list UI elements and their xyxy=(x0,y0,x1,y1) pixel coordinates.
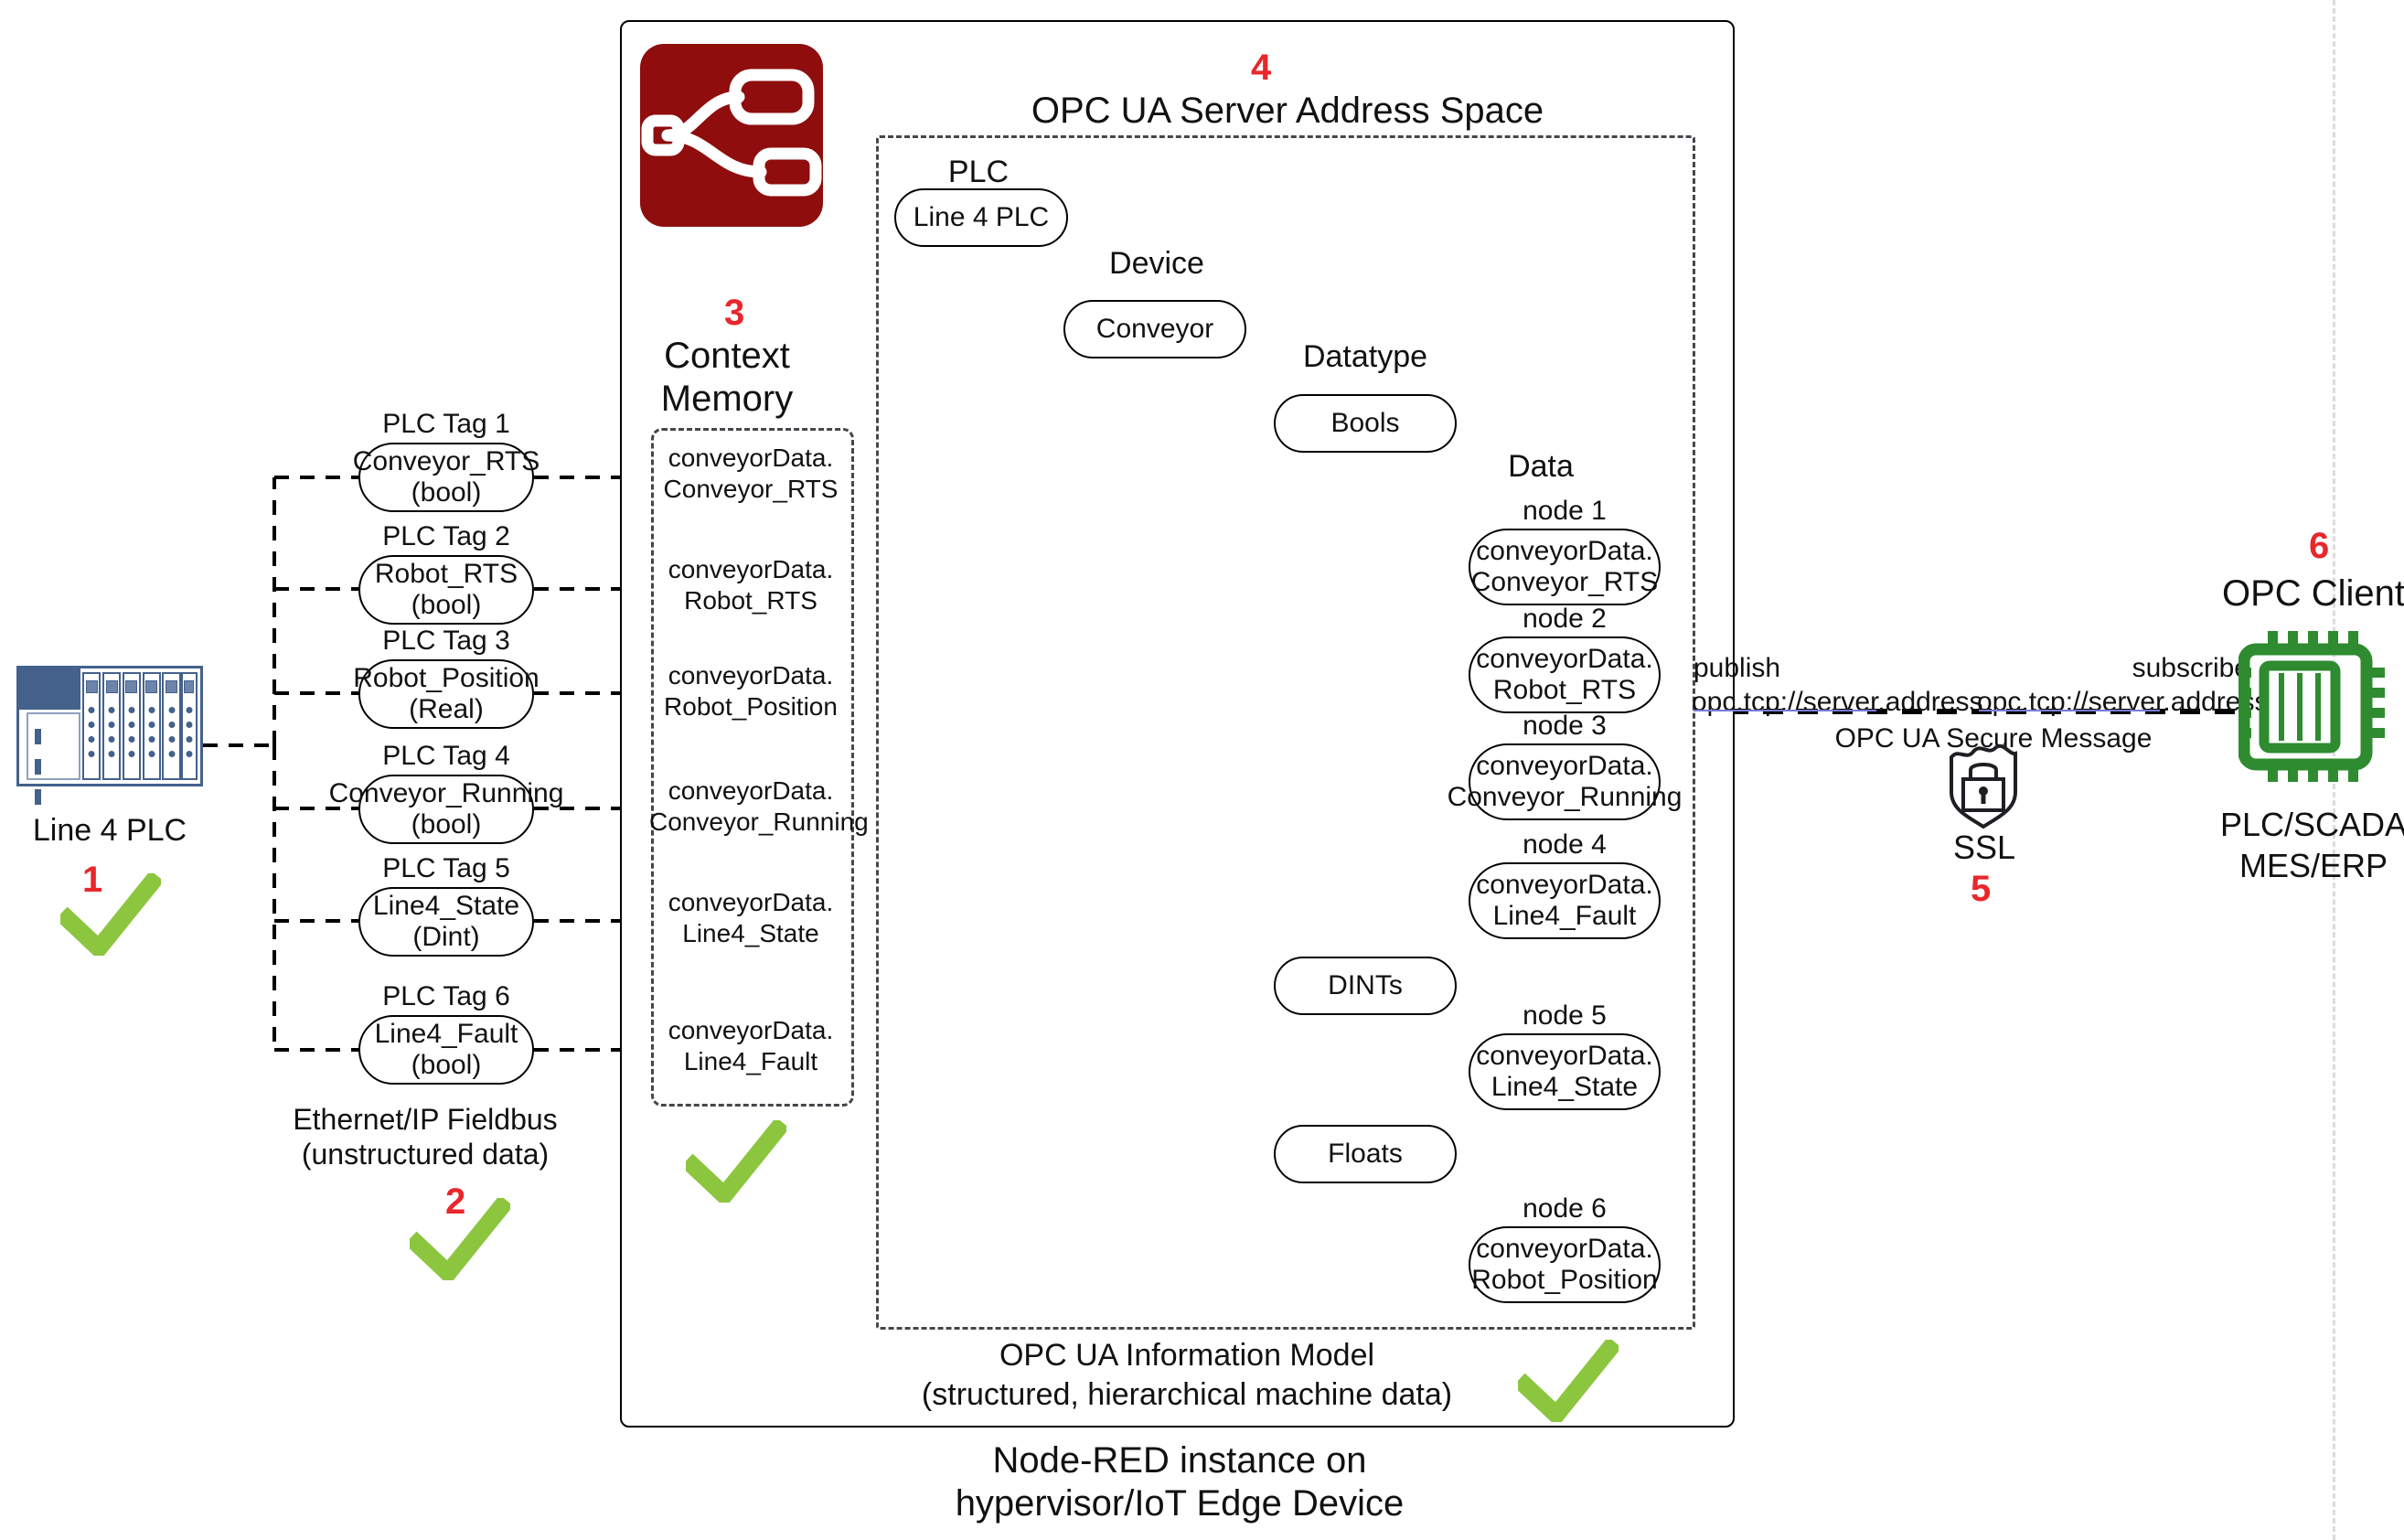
address-space-title: OPC UA Server Address Space xyxy=(876,89,1699,134)
cpu-chip-icon xyxy=(2238,631,2385,782)
context-entry-4-line2: Line4_State xyxy=(653,918,849,949)
data-node-0-line2: Conveyor_RTS xyxy=(1471,567,1659,599)
plc-tag-name-0: Conveyor_RTS xyxy=(353,446,540,478)
plc-tag-pill-3[interactable]: Conveyor_Running (bool) xyxy=(358,775,534,844)
context-entry-5-line2: Line4_Fault xyxy=(653,1046,849,1077)
level-label-datatype: Datatype xyxy=(1278,338,1452,376)
data-node-caption-4: node 5 xyxy=(1469,1000,1661,1033)
plc-tag-type-2: (Real) xyxy=(409,694,484,726)
address-node-device[interactable]: Conveyor xyxy=(1063,300,1246,358)
subscribe-url: opc.tcp://server.address xyxy=(1977,686,2253,720)
data-node-4[interactable]: conveyorData. Line4_State xyxy=(1469,1033,1661,1110)
step-number-5: 5 xyxy=(1971,869,1991,910)
level-label-data: Data xyxy=(1472,448,1609,486)
shield-lock-icon xyxy=(1946,739,2021,830)
context-entry-3-line2: Conveyor_Running xyxy=(649,807,852,838)
step-number-4: 4 xyxy=(1251,48,1271,89)
address-node-device-label: Conveyor xyxy=(1096,314,1213,346)
fieldbus-label-line2: (unstructured data) xyxy=(256,1137,594,1172)
plc-tag-type-1: (bool) xyxy=(411,590,482,622)
data-node-1[interactable]: conveyorData. Robot_RTS xyxy=(1469,636,1661,713)
context-memory-entry-2: conveyorData. Robot_Position xyxy=(653,660,849,722)
level-label-device: Device xyxy=(1088,245,1225,283)
context-entry-0-line1: conveyorData. xyxy=(653,443,849,474)
subscribe-url-underline xyxy=(1979,710,2160,711)
plc-tag-pill-4[interactable]: Line4_State (Dint) xyxy=(358,887,534,957)
address-space-footer-line2: (structured, hierarchical machine data) xyxy=(876,1376,1498,1414)
context-memory-title-line1: Context xyxy=(631,334,823,379)
context-entry-0-line2: Conveyor_RTS xyxy=(653,474,849,505)
context-entry-3-line1: conveyorData. xyxy=(649,775,852,807)
data-node-2-line1: conveyorData. xyxy=(1476,751,1652,783)
address-node-datatype-0-label: Bools xyxy=(1330,408,1399,440)
data-node-3-line2: Line4_Fault xyxy=(1493,901,1637,933)
plc-rack-icon xyxy=(16,666,203,786)
data-node-4-line1: conveyorData. xyxy=(1476,1041,1652,1073)
context-memory-entry-4: conveyorData. Line4_State xyxy=(653,887,849,949)
plc-tag-type-3: (bool) xyxy=(411,809,482,841)
data-node-5-line2: Robot_Position xyxy=(1471,1265,1657,1297)
plc-tag-caption-4: PLC Tag 5 xyxy=(358,852,534,886)
data-node-2[interactable]: conveyorData. Conveyor_Running xyxy=(1469,743,1661,820)
address-node-datatype-1[interactable]: DINTs xyxy=(1274,957,1457,1015)
context-entry-2-line1: conveyorData. xyxy=(653,660,849,691)
plc-tag-name-2: Robot_Position xyxy=(353,663,539,695)
context-entry-2-line2: Robot_Position xyxy=(653,691,849,722)
data-node-2-line2: Conveyor_Running xyxy=(1448,782,1683,814)
plc-tag-caption-0: PLC Tag 1 xyxy=(358,408,534,442)
context-memory-entry-0: conveyorData. Conveyor_RTS xyxy=(653,443,849,505)
opc-client-sub-line1: PLC/SCADA xyxy=(2158,805,2404,845)
data-node-caption-3: node 4 xyxy=(1469,829,1661,862)
plc-tag-name-1: Robot_RTS xyxy=(375,559,518,591)
context-memory-title-line2: Memory xyxy=(631,377,823,422)
address-node-plc-label: Line 4 PLC xyxy=(914,202,1049,234)
plc-tag-type-0: (bool) xyxy=(411,477,482,509)
publish-label: publish xyxy=(1693,652,1876,686)
check-mark-1 xyxy=(60,873,161,956)
address-node-datatype-2-label: Floats xyxy=(1328,1139,1403,1171)
address-node-datatype-0[interactable]: Bools xyxy=(1274,394,1457,453)
data-node-3[interactable]: conveyorData. Line4_Fault xyxy=(1469,862,1661,939)
context-entry-1-line1: conveyorData. xyxy=(653,554,849,585)
data-node-5-line1: conveyorData. xyxy=(1476,1234,1652,1266)
context-entry-5-line1: conveyorData. xyxy=(653,1015,849,1046)
data-node-3-line1: conveyorData. xyxy=(1476,870,1652,902)
address-node-datatype-2[interactable]: Floats xyxy=(1274,1125,1457,1183)
data-node-caption-2: node 3 xyxy=(1469,710,1661,743)
nodered-footer-line1: Node-RED instance on xyxy=(914,1438,1445,1483)
address-space-footer-line1: OPC UA Information Model xyxy=(876,1337,1498,1374)
data-node-caption-1: node 2 xyxy=(1469,603,1661,636)
diagram-canvas: Line 4 PLC 1 Ethernet/IP Fieldbus (unstr… xyxy=(0,0,2404,1540)
context-entry-4-line1: conveyorData. xyxy=(653,887,849,918)
plc-tag-caption-5: PLC Tag 6 xyxy=(358,980,534,1014)
data-node-caption-5: node 6 xyxy=(1469,1192,1661,1226)
ssl-label: SSL xyxy=(1902,828,2067,868)
plc-tag-pill-0[interactable]: Conveyor_RTS (bool) xyxy=(358,443,534,512)
nodered-footer-line2: hypervisor/IoT Edge Device xyxy=(878,1481,1481,1526)
context-memory-box xyxy=(651,428,854,1107)
data-node-0-line1: conveyorData. xyxy=(1476,536,1652,568)
context-memory-entry-5: conveyorData. Line4_Fault xyxy=(653,1015,849,1077)
context-entry-1-line2: Robot_RTS xyxy=(653,585,849,616)
step-number-6: 6 xyxy=(2309,526,2329,567)
publish-url-underline xyxy=(1693,710,1876,711)
address-node-datatype-1-label: DINTs xyxy=(1328,970,1403,1002)
publish-url: opc.tcp://server.address xyxy=(1692,686,1984,720)
plc-tag-type-4: (Dint) xyxy=(412,922,479,954)
plc-tag-pill-2[interactable]: Robot_Position (Real) xyxy=(358,659,534,729)
check-mark-3 xyxy=(686,1120,786,1203)
plc-tag-caption-2: PLC Tag 3 xyxy=(358,625,534,658)
plc-tag-caption-1: PLC Tag 2 xyxy=(358,520,534,554)
step-number-3: 3 xyxy=(724,293,744,334)
context-memory-entry-1: conveyorData. Robot_RTS xyxy=(653,554,849,616)
fieldbus-label-line1: Ethernet/IP Fieldbus xyxy=(256,1102,594,1138)
address-node-plc[interactable]: Line 4 PLC xyxy=(894,188,1068,247)
opc-client-title: OPC Client xyxy=(2167,572,2404,616)
plc-label: Line 4 PLC xyxy=(0,812,219,850)
context-memory-entry-3: conveyorData. Conveyor_Running xyxy=(649,775,852,838)
node-red-logo-glyph xyxy=(640,44,823,227)
plc-tag-pill-1[interactable]: Robot_RTS (bool) xyxy=(358,555,534,625)
plc-tag-name-3: Conveyor_Running xyxy=(329,778,564,810)
plc-tag-caption-3: PLC Tag 4 xyxy=(358,740,534,774)
opc-client-sub-line2: MES/ERP xyxy=(2158,846,2404,886)
check-mark-4 xyxy=(1518,1340,1619,1422)
plc-tag-name-5: Line4_Fault xyxy=(375,1019,518,1051)
subscribe-label: subscribe xyxy=(1975,652,2249,686)
check-mark-2 xyxy=(410,1198,510,1280)
data-node-1-line2: Robot_RTS xyxy=(1493,675,1636,707)
plc-tag-pill-5[interactable]: Line4_Fault (bool) xyxy=(358,1015,534,1085)
plc-tag-type-5: (bool) xyxy=(411,1050,482,1082)
level-label-plc: PLC xyxy=(924,154,1033,191)
data-node-1-line1: conveyorData. xyxy=(1476,644,1652,676)
plc-tag-name-4: Line4_State xyxy=(373,891,519,923)
data-node-0[interactable]: conveyorData. Conveyor_RTS xyxy=(1469,529,1661,605)
node-red-logo xyxy=(640,44,823,227)
data-node-5[interactable]: conveyorData. Robot_Position xyxy=(1469,1226,1661,1303)
data-node-caption-0: node 1 xyxy=(1469,495,1661,529)
data-node-4-line2: Line4_State xyxy=(1491,1072,1638,1104)
